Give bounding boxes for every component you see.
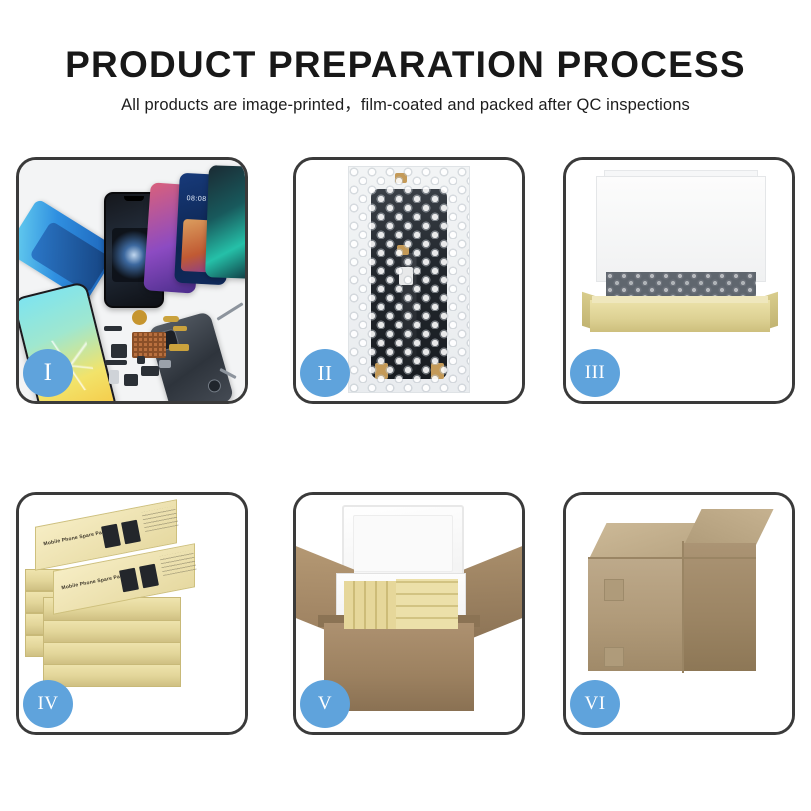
part-flex-cable-1 [163, 316, 179, 322]
part-speaker [104, 326, 122, 331]
step-panel-1[interactable]: 08:08 [16, 157, 248, 404]
bubble-wrap-bag [348, 166, 470, 393]
retail-box-2 [43, 641, 181, 665]
part-logic-board [132, 332, 166, 358]
step-badge-6: VI [570, 680, 620, 728]
step-panel-2[interactable]: II [293, 157, 525, 404]
step-badge-2: II [300, 349, 350, 397]
step-5-image: V [296, 495, 522, 732]
phone-notch [124, 196, 144, 201]
step-2-image: II [296, 160, 522, 401]
box-front-panel [590, 300, 770, 332]
box-top-rim [592, 296, 768, 303]
step-1-image: 08:08 [19, 160, 245, 401]
carton-tape-lower [604, 647, 624, 667]
step-panel-6[interactable]: VI [563, 492, 795, 735]
part-sim-tray [109, 370, 119, 384]
steps-grid: 08:08 [0, 0, 811, 811]
bubble-texture [349, 167, 469, 392]
part-connector-strip [105, 360, 127, 365]
step-panel-4[interactable]: Mobile Phone Spare Parts Mobile Phone Sp… [16, 492, 248, 735]
step-panel-5[interactable]: V [293, 492, 525, 735]
camera-lens-icon [206, 378, 222, 394]
box-open-lid [596, 176, 766, 282]
carton-front-face [588, 559, 684, 671]
retail-box-1 [43, 663, 181, 687]
step-badge-1: I [23, 349, 73, 397]
part-earpiece [141, 366, 159, 376]
part-gold-coil [132, 310, 147, 325]
phone-clock-label: 08:08 [186, 195, 206, 203]
step-3-image: III [566, 160, 792, 401]
product-preparation-infographic: PRODUCT PREPARATION PROCESS All products… [0, 0, 811, 811]
carton-side-face [684, 543, 756, 671]
styrofoam-lid [342, 505, 464, 583]
part-shield-can [159, 360, 171, 368]
part-flex-cable-3 [169, 344, 189, 351]
styrofoam-lid-inner [353, 515, 453, 572]
carton-tape-upper [604, 579, 624, 601]
phone-screen-teal [205, 165, 245, 279]
step-badge-3: III [570, 349, 620, 397]
part-vibrator [124, 374, 138, 386]
carton-vertical-seam [682, 541, 684, 673]
step-badge-4: IV [23, 680, 73, 728]
carton-top-seam [588, 557, 756, 559]
packed-boxes-row-2 [396, 579, 458, 629]
part-flex-cable-2 [173, 326, 187, 331]
step-6-image: VI [566, 495, 792, 732]
step-badge-5: V [300, 680, 350, 728]
step-panel-3[interactable]: III [563, 157, 795, 404]
step-4-image: Mobile Phone Spare Parts Mobile Phone Sp… [19, 495, 245, 732]
part-screw-plate [137, 356, 145, 364]
part-bracket [111, 344, 127, 358]
retail-box-3 [43, 619, 181, 643]
